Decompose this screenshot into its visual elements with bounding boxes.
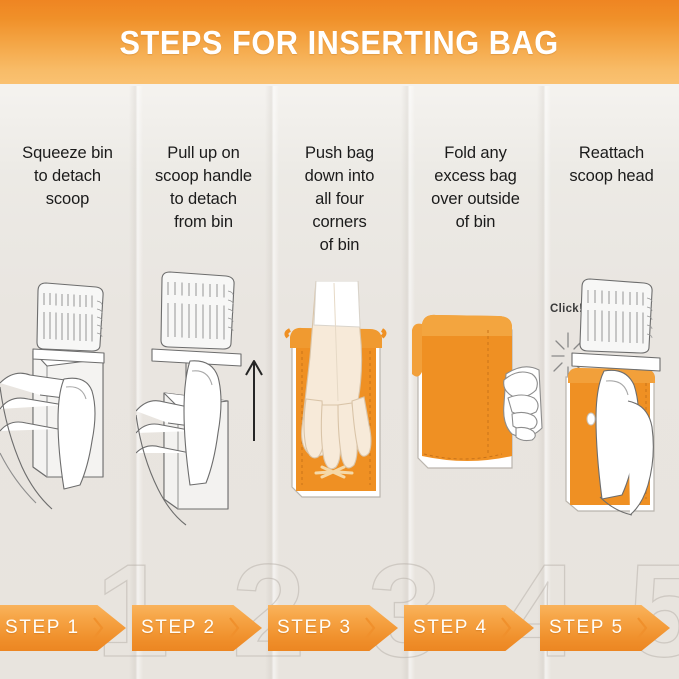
caption-line: over outside bbox=[410, 188, 541, 211]
step-illustration-1 bbox=[0, 271, 135, 531]
caption-line: scoop handle bbox=[138, 165, 269, 188]
step-column-2: Pull up on scoop handle to detach from b… bbox=[136, 86, 271, 586]
step-caption-2: Pull up on scoop handle to detach from b… bbox=[138, 142, 269, 234]
step-caption-4: Fold any excess bag over outside of bin bbox=[410, 142, 541, 234]
caption-line: Pull up on bbox=[138, 142, 269, 165]
caption-line: Squeeze bin bbox=[2, 142, 133, 165]
instruction-poster: STEPS FOR INSERTING BAG Squeeze bin to d… bbox=[0, 0, 679, 679]
caption-line: Push bag bbox=[274, 142, 405, 165]
step-banner-label: STEP 5 bbox=[540, 617, 624, 639]
caption-line: down into bbox=[274, 165, 405, 188]
caption-line: of bin bbox=[410, 211, 541, 234]
step-banner-label: STEP 4 bbox=[404, 617, 488, 639]
caption-line: scoop bbox=[2, 188, 133, 211]
step-column-4: Fold any excess bag over outside of bin bbox=[408, 86, 543, 586]
caption-line: to detach bbox=[138, 188, 269, 211]
step-banner-label: STEP 2 bbox=[132, 617, 216, 639]
step-column-5: Reattach scoop head Click! bbox=[544, 86, 679, 586]
caption-line: from bin bbox=[138, 211, 269, 234]
step-banner-label: STEP 3 bbox=[268, 617, 352, 639]
caption-line: Fold any bbox=[410, 142, 541, 165]
step-caption-1: Squeeze bin to detach scoop bbox=[2, 142, 133, 211]
step-column-3: Push bag down into all four corners of b… bbox=[272, 86, 407, 586]
step-banner-label: STEP 1 bbox=[0, 617, 80, 639]
step-banner-row: STEP 1 STEP 2 STEP 3 STEP 4 STEP 5 bbox=[0, 605, 679, 653]
caption-line: Reattach bbox=[546, 142, 677, 165]
caption-line: excess bag bbox=[410, 165, 541, 188]
header-banner: STEPS FOR INSERTING BAG bbox=[0, 0, 679, 84]
step-banner-4[interactable]: STEP 4 bbox=[404, 605, 534, 651]
steps-columns: Squeeze bin to detach scoop bbox=[0, 86, 679, 586]
step-caption-5: Reattach scoop head bbox=[546, 142, 677, 188]
caption-line: corners bbox=[274, 211, 405, 234]
caption-line: of bin bbox=[274, 234, 405, 257]
step-column-1: Squeeze bin to detach scoop bbox=[0, 86, 135, 586]
caption-line: scoop head bbox=[546, 165, 677, 188]
caption-line: to detach bbox=[2, 165, 133, 188]
page-title: STEPS FOR INSERTING BAG bbox=[120, 24, 559, 62]
step-banner-3[interactable]: STEP 3 bbox=[268, 605, 398, 651]
step-banner-5[interactable]: STEP 5 bbox=[540, 605, 670, 651]
step-banner-2[interactable]: STEP 2 bbox=[132, 605, 262, 651]
step-caption-3: Push bag down into all four corners of b… bbox=[274, 142, 405, 257]
step-banner-1[interactable]: STEP 1 bbox=[0, 605, 126, 651]
step-illustration-4 bbox=[408, 308, 543, 568]
step-illustration-3 bbox=[272, 281, 407, 541]
caption-line: all four bbox=[274, 188, 405, 211]
step-illustration-5: Click! bbox=[544, 271, 679, 531]
step-illustration-2 bbox=[136, 271, 271, 531]
